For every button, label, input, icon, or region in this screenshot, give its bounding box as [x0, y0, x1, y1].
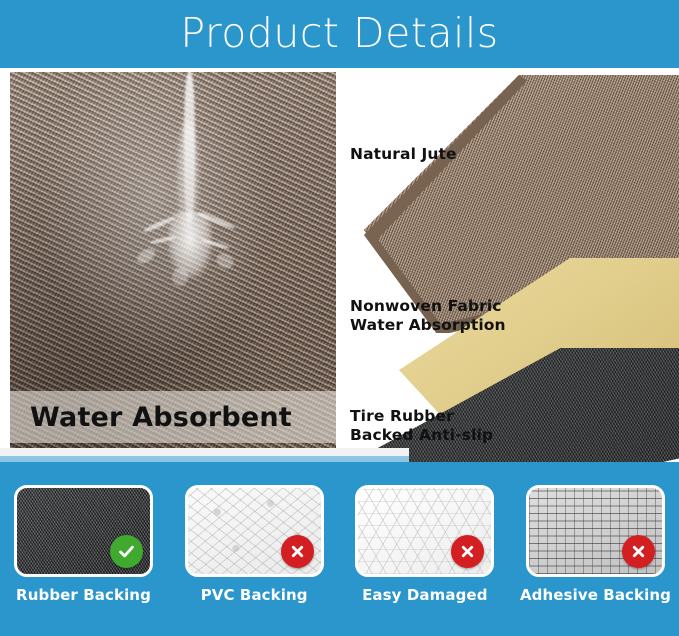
cross-icon [622, 535, 655, 568]
comparison-card-label: Rubber Backing [16, 586, 151, 604]
comparison-card-easy-damaged[interactable]: Easy Damaged [355, 485, 494, 636]
layer-diagram: Natural Jute Nonwoven Fabric Water Absor… [336, 68, 679, 472]
comparison-card-label: Adhesive Backing [520, 586, 671, 604]
main-stage: Water Absorbent Natural Jute Nonwoven Fa… [0, 68, 679, 472]
water-splash-graphic [138, 72, 248, 292]
layer-label-natural-jute: Natural Jute [350, 145, 457, 164]
comparison-card-list: Rubber Backing PVC Backing [0, 462, 679, 636]
cross-icon [451, 535, 484, 568]
comparison-band: Rubber Backing PVC Backing [0, 462, 679, 636]
jute-weave-water-splash-photo: Water Absorbent [10, 72, 336, 455]
comparison-card-label: Easy Damaged [362, 586, 487, 604]
embossed-foam-swatch [355, 485, 494, 577]
comparison-card-label: PVC Backing [201, 586, 308, 604]
layer-label-tire-rubber: Tire Rubber Backed Anti-slip [350, 407, 493, 445]
water-pool [168, 212, 212, 278]
layer-label-nonwoven-fabric: Nonwoven Fabric Water Absorption [350, 297, 506, 335]
product-details-infographic: Product Details Water Absorbent [0, 0, 679, 636]
photo-caption-band: Water Absorbent [10, 391, 336, 443]
cross-icon [281, 535, 314, 568]
page-title: Product Details [180, 13, 498, 54]
pvc-mesh-swatch [185, 485, 324, 577]
comparison-card-rubber-backing[interactable]: Rubber Backing [14, 485, 153, 636]
comparison-card-pvc-backing[interactable]: PVC Backing [185, 485, 324, 636]
adhesive-grid-swatch [526, 485, 665, 577]
water-droplet [172, 268, 188, 286]
water-droplet [134, 245, 157, 266]
photo-caption: Water Absorbent [30, 402, 292, 433]
comparison-card-adhesive-backing[interactable]: Adhesive Backing [526, 485, 665, 636]
rubber-weave-swatch [14, 485, 153, 577]
check-icon [110, 535, 143, 568]
header-banner: Product Details [0, 0, 679, 68]
shelf-highlight [0, 448, 409, 456]
water-droplet [214, 250, 237, 271]
